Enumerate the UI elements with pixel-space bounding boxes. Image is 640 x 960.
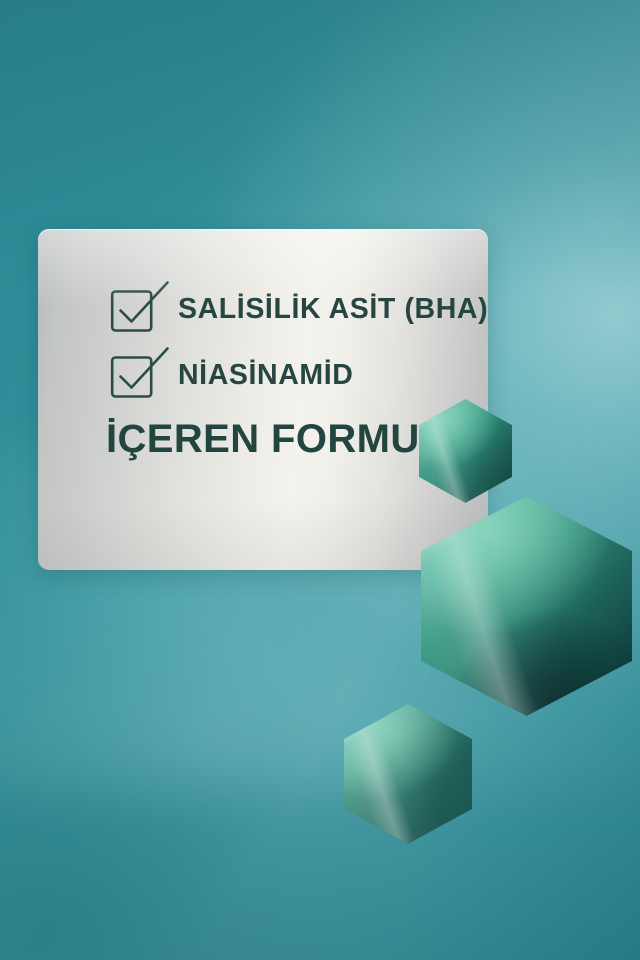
checkbox-checked-icon (110, 287, 154, 331)
ingredient-label: NİASİNAMİD (178, 361, 353, 390)
checklist-item-niacinamide: NİASİNAMİD (110, 353, 488, 397)
promo-banner: SALİSİLİK ASİT (BHA) NİASİNAMİD İÇEREN F… (0, 0, 640, 960)
ingredient-card: SALİSİLİK ASİT (BHA) NİASİNAMİD İÇEREN F… (38, 229, 488, 570)
ingredient-label: SALİSİLİK ASİT (BHA) (178, 295, 488, 324)
checklist-item-salicylic-acid: SALİSİLİK ASİT (BHA) (110, 287, 488, 331)
checkbox-checked-icon (110, 353, 154, 397)
